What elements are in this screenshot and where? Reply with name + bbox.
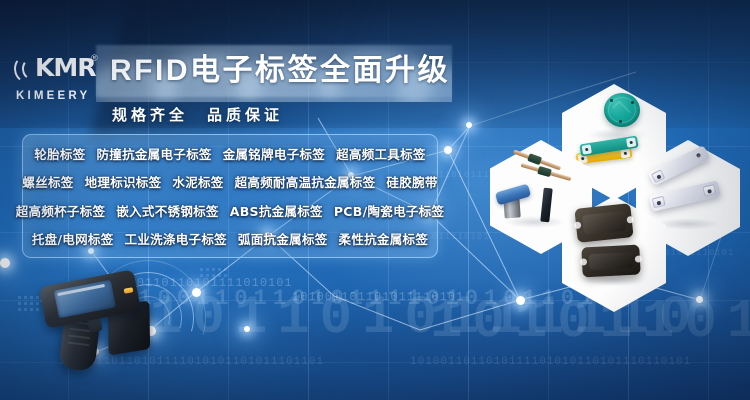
logo-mark-icon: KMR ® bbox=[14, 52, 106, 86]
trademark-icon: ® bbox=[91, 53, 98, 63]
tag-item: 超高频耐高温抗金属标签 bbox=[235, 172, 376, 191]
tag-item: 超高频工具标签 bbox=[336, 144, 426, 163]
tag-item: 水泥标签 bbox=[172, 172, 223, 191]
tag-row: 螺丝标签 地理标识标签 水泥标签 超高频耐高温抗金属标签 硅胶腕带 bbox=[23, 172, 437, 191]
tag-item: 柔性抗金属标签 bbox=[339, 229, 429, 248]
page-subtitle: 规格齐全 品质保证 bbox=[112, 104, 283, 125]
tag-item: 工业洗涤电子标签 bbox=[125, 229, 227, 248]
tag-item: ABS抗金属标签 bbox=[230, 201, 323, 220]
tag-item: PCB/陶瓷电子标签 bbox=[334, 201, 444, 220]
tag-row: 托盘/电网标签 工业洗涤电子标签 弧面抗金属标签 柔性抗金属标签 bbox=[23, 229, 437, 248]
tag-item: 金属铭牌电子标签 bbox=[223, 144, 325, 163]
tag-item: 地理标识标签 bbox=[85, 172, 162, 191]
company-name: KIMEERY bbox=[16, 90, 90, 102]
tag-row: 轮胎标签 防撞抗金属电子标签 金属铭牌电子标签 超高频工具标签 bbox=[23, 144, 437, 163]
handheld-rfid-reader[interactable] bbox=[36, 272, 160, 384]
rfid-product-banner: 1011010111110 1010110101111010101 101001… bbox=[0, 0, 750, 400]
abs-anti-metal-tag bbox=[574, 203, 633, 243]
tag-item: 硅胶腕带 bbox=[386, 172, 437, 191]
brand-logo[interactable]: KMR ® KIMEERY bbox=[14, 52, 106, 110]
tag-item: 托盘/电网标签 bbox=[32, 229, 114, 248]
tag-item: 防撞抗金属电子标签 bbox=[96, 144, 211, 163]
logo-letters: KMR bbox=[35, 53, 96, 82]
tag-item: 螺丝标签 bbox=[22, 172, 73, 191]
tag-item: 嵌入式不锈钢标签 bbox=[116, 201, 218, 220]
page-title: RFID电子标签全面升级 bbox=[110, 50, 450, 92]
tag-item: 轮胎标签 bbox=[34, 144, 85, 163]
tag-item: 弧面抗金属标签 bbox=[238, 229, 328, 248]
white-anti-metal-tag bbox=[648, 145, 710, 186]
abs-anti-metal-tag bbox=[581, 245, 640, 278]
product-tag-list-panel: 轮胎标签 防撞抗金属电子标签 金属铭牌电子标签 超高频工具标签 螺丝标签 地理标… bbox=[22, 134, 438, 258]
round-disc-tag bbox=[604, 93, 640, 127]
tag-item: 超高频杯子标签 bbox=[16, 201, 106, 220]
reader-screen bbox=[54, 280, 116, 319]
tag-row: 超高频杯子标签 嵌入式不锈钢标签 ABS抗金属标签 PCB/陶瓷电子标签 bbox=[23, 201, 437, 220]
product-group-bottom bbox=[562, 196, 666, 312]
